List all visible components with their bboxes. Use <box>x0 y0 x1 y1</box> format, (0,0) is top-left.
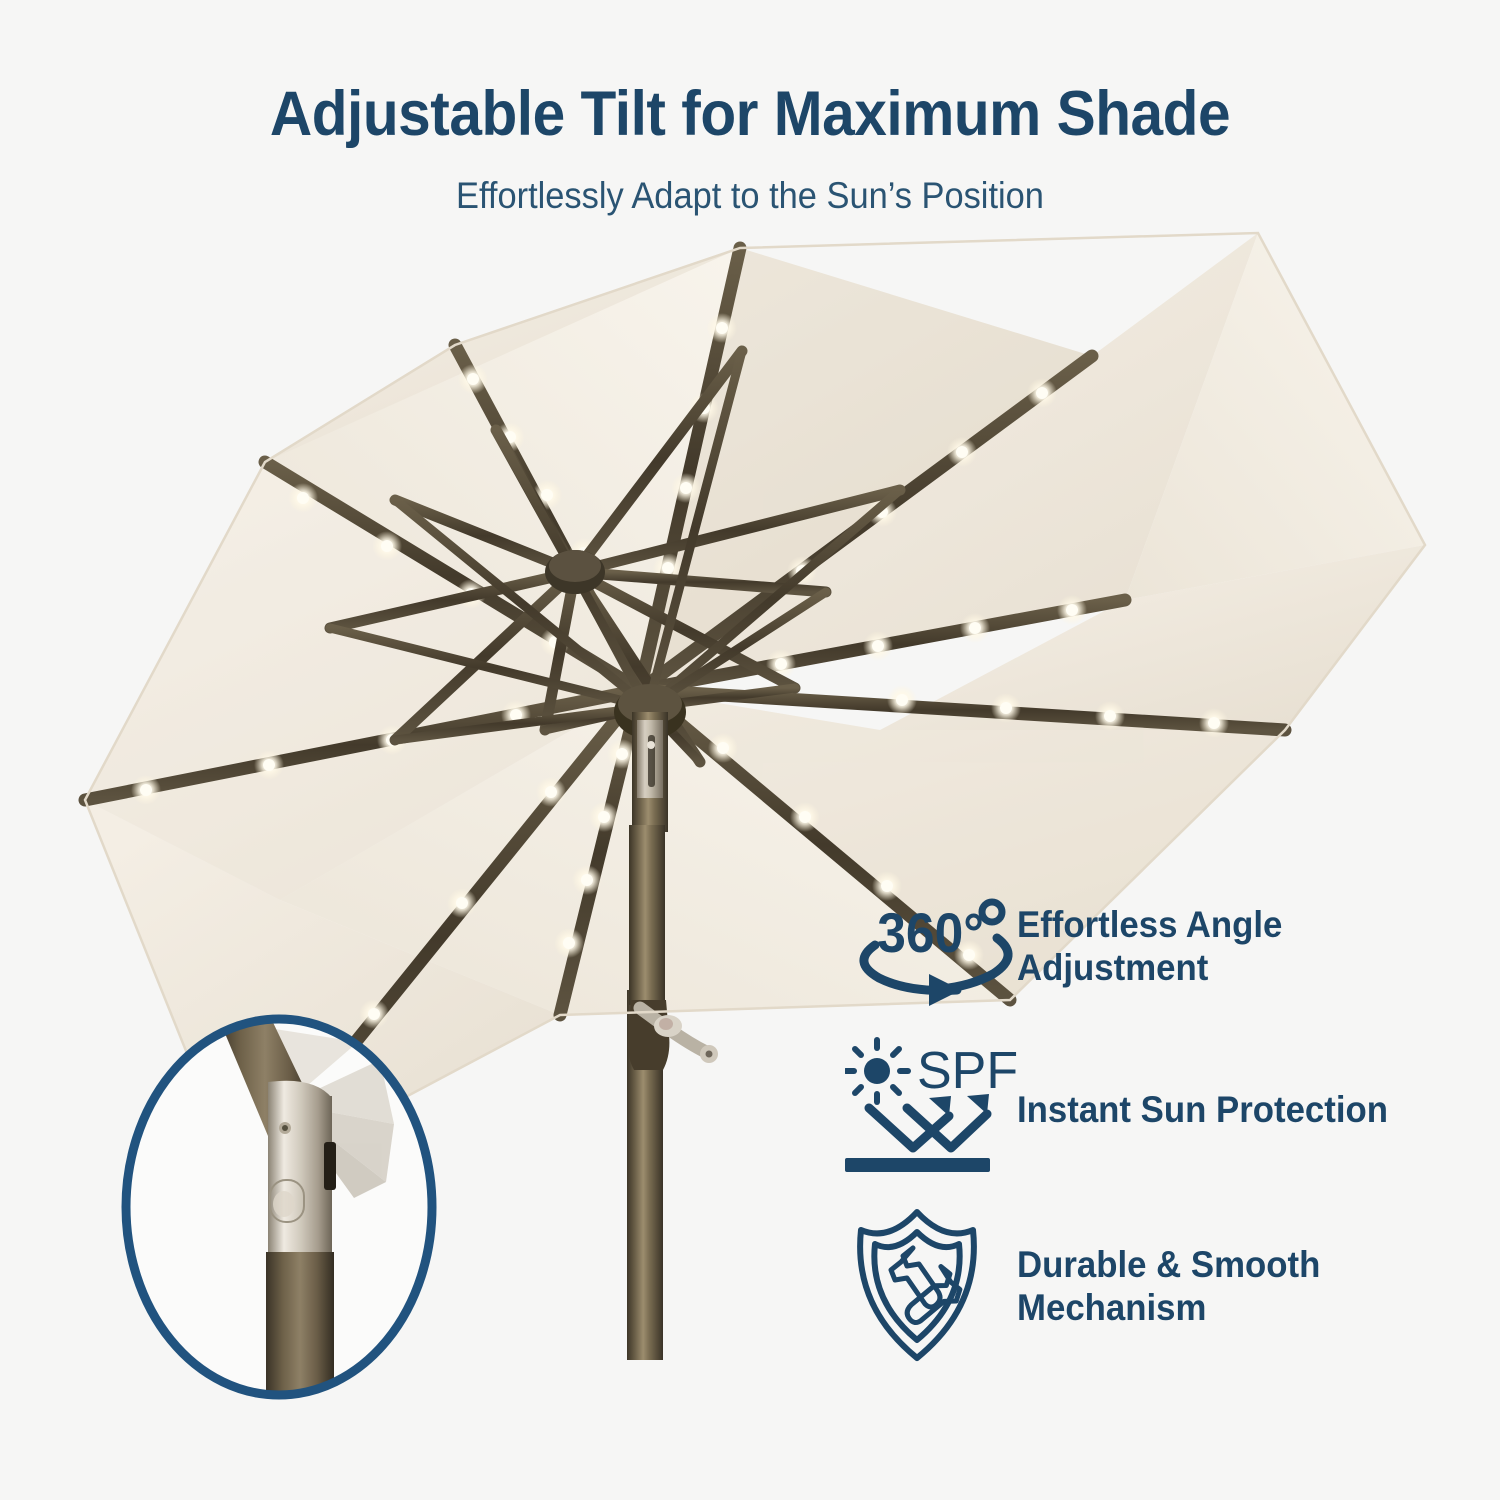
feature-label-360: Effortless Angle Adjustment <box>1017 903 1282 990</box>
feature-label-durability: Durable & Smooth Mechanism <box>1017 1243 1320 1330</box>
tilt-slot <box>324 1142 336 1190</box>
spf-sun-protection-icon: SPF <box>845 1036 1017 1184</box>
feature-item-360: 360° Effortless Angle Adjustment <box>845 890 1485 1006</box>
feature-list: 360° Effortless Angle Adjustment <box>845 890 1485 1396</box>
surface-bar <box>845 1158 990 1172</box>
feature-label-spf: Instant Sun Protection <box>1017 1088 1388 1131</box>
feature-item-spf: SPF Instant Sun Protection <box>845 1036 1485 1184</box>
tilt-mechanism-closeup <box>118 1012 440 1402</box>
lower-pole-section <box>266 1252 334 1402</box>
360-degree-rotation-icon: 360° <box>845 890 1017 1006</box>
marketing-image: Adjustable Tilt for Maximum Shade Effort… <box>0 0 1500 1500</box>
shield-wrench-durability-icon <box>845 1206 1017 1366</box>
360-icon-label: 360° <box>877 902 984 964</box>
spf-icon-label: SPF <box>917 1042 1017 1100</box>
feature-item-durability: Durable & Smooth Mechanism <box>845 1206 1485 1366</box>
